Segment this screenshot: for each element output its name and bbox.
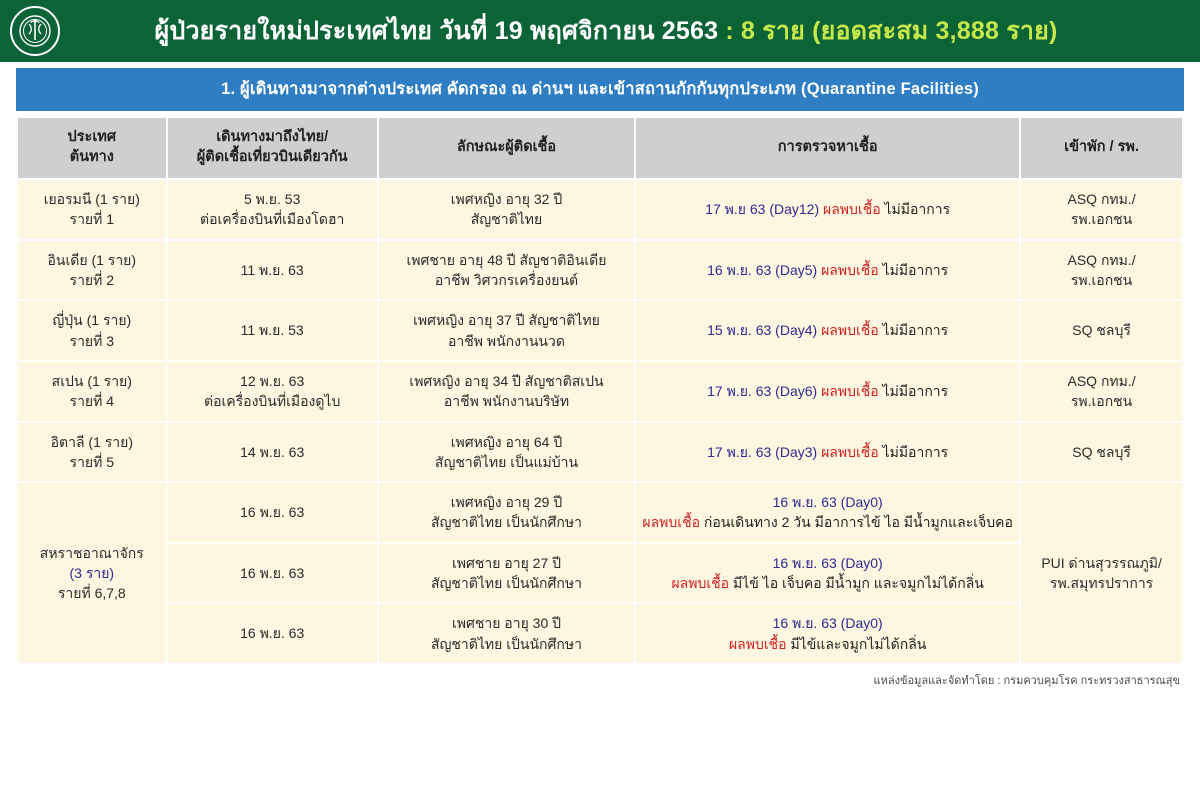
table-row: เยอรมนี (1 ราย) รายที่ 1 5 พ.ย. 53 ต่อเค… [17, 179, 1183, 240]
table-row: 16 พ.ย. 63 เพศชาย อายุ 30 ปี สัญชาติไทย … [17, 603, 1183, 664]
test-date: 17 พ.ย. 63 (Day3) [707, 444, 817, 460]
cell-testing: 17 พ.ย. 63 (Day3) ผลพบเชื้อ ไม่มีอาการ [635, 422, 1020, 483]
test-result: ผลพบเชื้อ [821, 262, 879, 278]
test-date: 16 พ.ย. 63 (Day0) [642, 553, 1013, 573]
test-date: 15 พ.ย. 63 (Day4) [707, 322, 817, 338]
test-date: 16 พ.ย. 63 (Day0) [642, 492, 1013, 512]
cell-country: เยอรมนี (1 ราย) รายที่ 1 [17, 179, 167, 240]
column-header-arrival: เดินทางมาถึงไทย/ ผู้ติดเชื้อเที่ยวบินเดี… [167, 117, 378, 179]
subtitle-wrap: 1. ผู้เดินทางมาจากต่างประเทศ คัดกรอง ณ ด… [0, 62, 1200, 116]
cases-table: ประเทศ ต้นทาง เดินทางมาถึงไทย/ ผู้ติดเชื… [16, 116, 1184, 665]
test-result: ผลพบเชื้อ [823, 201, 881, 217]
column-header-profile-line1: ลักษณะผู้ติดเชื้อ [383, 138, 630, 158]
cell-arrival: 5 พ.ย. 53 ต่อเครื่องบินที่เมืองโดฮา [167, 179, 378, 240]
test-symptom: ไม่มีอาการ [883, 262, 949, 278]
column-header-profile: ลักษณะผู้ติดเชื้อ [378, 117, 635, 179]
title-bar: ผู้ป่วยรายใหม่ประเทศไทย วันที่ 19 พฤศจิก… [0, 0, 1200, 62]
cell-country-uk-group: สหราชอาณาจักร (3 ราย) รายที่ 6,7,8 [17, 482, 167, 664]
column-header-arrival-line2: ผู้ติดเชื้อเที่ยวบินเดียวกัน [172, 148, 373, 168]
cell-stay: ASQ กทม./ รพ.เอกชน [1020, 361, 1183, 422]
cell-country: สเปน (1 ราย) รายที่ 4 [17, 361, 167, 422]
table-row: ญี่ปุ่น (1 ราย) รายที่ 3 11 พ.ย. 53 เพศห… [17, 300, 1183, 361]
test-date: 17 พ.ย 63 (Day12) [705, 201, 819, 217]
page-title: ผู้ป่วยรายใหม่ประเทศไทย วันที่ 19 พฤศจิก… [66, 11, 1200, 51]
column-header-country: ประเทศ ต้นทาง [17, 117, 167, 179]
table-row: อิตาลี (1 ราย) รายที่ 5 14 พ.ย. 63 เพศหญ… [17, 422, 1183, 483]
table-row: อินเดีย (1 ราย) รายที่ 2 11 พ.ย. 63 เพศช… [17, 240, 1183, 301]
cell-country: ญี่ปุ่น (1 ราย) รายที่ 3 [17, 300, 167, 361]
cell-profile: เพศหญิง อายุ 37 ปี สัญชาติไทย อาชีพ พนัก… [378, 300, 635, 361]
table-row: สหราชอาณาจักร (3 ราย) รายที่ 6,7,8 16 พ.… [17, 482, 1183, 543]
test-result: ผลพบเชื้อ [729, 636, 787, 652]
moph-caduceus-logo-icon [10, 6, 60, 56]
test-date: 17 พ.ย. 63 (Day6) [707, 383, 817, 399]
column-header-country-line2: ต้นทาง [22, 148, 162, 168]
table-row: สเปน (1 ราย) รายที่ 4 12 พ.ย. 63 ต่อเครื… [17, 361, 1183, 422]
cell-testing: 16 พ.ย. 63 (Day5) ผลพบเชื้อ ไม่มีอาการ [635, 240, 1020, 301]
test-date: 16 พ.ย. 63 (Day5) [707, 262, 817, 278]
cell-testing: 17 พ.ย 63 (Day12) ผลพบเชื้อ ไม่มีอาการ [635, 179, 1020, 240]
page-title-main: ผู้ป่วยรายใหม่ประเทศไทย วันที่ 19 พฤศจิก… [155, 17, 726, 45]
infographic-page: ผู้ป่วยรายใหม่ประเทศไทย วันที่ 19 พฤศจิก… [0, 0, 1200, 799]
test-result: ผลพบเชื้อ [821, 322, 879, 338]
cell-arrival: 12 พ.ย. 63 ต่อเครื่องบินที่เมืองดูไบ [167, 361, 378, 422]
test-symptom: ไม่มีอาการ [883, 444, 949, 460]
section-subtitle: 1. ผู้เดินทางมาจากต่างประเทศ คัดกรอง ณ ด… [16, 68, 1184, 111]
test-date: 16 พ.ย. 63 (Day0) [642, 613, 1013, 633]
cell-testing: 16 พ.ย. 63 (Day0) ผลพบเชื้อ ก่อนเดินทาง … [635, 482, 1020, 543]
column-header-stay: เข้าพัก / รพ. [1020, 117, 1183, 179]
cell-profile: เพศหญิง อายุ 34 ปี สัญชาติสเปน อาชีพ พนั… [378, 361, 635, 422]
cell-profile: เพศชาย อายุ 27 ปี สัญชาติไทย เป็นนักศึกษ… [378, 543, 635, 604]
cell-arrival: 11 พ.ย. 53 [167, 300, 378, 361]
test-symptom: มีไข้และจมูกไม่ได้กลิ่น [790, 636, 926, 652]
cell-profile: เพศชาย อายุ 30 ปี สัญชาติไทย เป็นนักศึกษ… [378, 603, 635, 664]
table-row: 16 พ.ย. 63 เพศชาย อายุ 27 ปี สัญชาติไทย … [17, 543, 1183, 604]
cell-profile: เพศชาย อายุ 48 ปี สัญชาติอินเดีย อาชีพ ว… [378, 240, 635, 301]
table-header-row: ประเทศ ต้นทาง เดินทางมาถึงไทย/ ผู้ติดเชื… [17, 117, 1183, 179]
cell-country: อิตาลี (1 ราย) รายที่ 5 [17, 422, 167, 483]
cell-testing: 15 พ.ย. 63 (Day4) ผลพบเชื้อ ไม่มีอาการ [635, 300, 1020, 361]
column-header-country-line1: ประเทศ [22, 128, 162, 148]
column-header-stay-line1: เข้าพัก / รพ. [1025, 138, 1178, 158]
cell-arrival: 14 พ.ย. 63 [167, 422, 378, 483]
test-result: ผลพบเชื้อ [671, 575, 729, 591]
cell-profile: เพศหญิง อายุ 32 ปี สัญชาติไทย [378, 179, 635, 240]
cell-stay-uk-group: PUI ด่านสุวรรณภูมิ/ รพ.สมุทรปราการ [1020, 482, 1183, 664]
cell-stay: ASQ กทม./ รพ.เอกชน [1020, 179, 1183, 240]
cell-testing: 16 พ.ย. 63 (Day0) ผลพบเชื้อ มีไข้ ไอ เจ็… [635, 543, 1020, 604]
cell-arrival: 16 พ.ย. 63 [167, 482, 378, 543]
page-title-count: : 8 ราย (ยอดสะสม 3,888 ราย) [725, 17, 1057, 45]
test-symptom: ไม่มีอาการ [885, 201, 951, 217]
column-header-testing: การตรวจหาเชื้อ [635, 117, 1020, 179]
cell-arrival: 16 พ.ย. 63 [167, 603, 378, 664]
column-header-arrival-line1: เดินทางมาถึงไทย/ [172, 128, 373, 148]
cell-stay: SQ ชลบุรี [1020, 422, 1183, 483]
cell-profile: เพศหญิง อายุ 29 ปี สัญชาติไทย เป็นนักศึก… [378, 482, 635, 543]
cell-arrival: 11 พ.ย. 63 [167, 240, 378, 301]
test-symptom: ก่อนเดินทาง 2 วัน มีอาการไข้ ไอ มีน้ำมูก… [704, 514, 1013, 530]
test-symptom: ไม่มีอาการ [883, 383, 949, 399]
cell-testing: 16 พ.ย. 63 (Day0) ผลพบเชื้อ มีไข้และจมูก… [635, 603, 1020, 664]
cell-stay: ASQ กทม./ รพ.เอกชน [1020, 240, 1183, 301]
cell-stay: SQ ชลบุรี [1020, 300, 1183, 361]
cell-profile: เพศหญิง อายุ 64 ปี สัญชาติไทย เป็นแม่บ้า… [378, 422, 635, 483]
test-result: ผลพบเชื้อ [821, 444, 879, 460]
test-result: ผลพบเชื้อ [821, 383, 879, 399]
test-symptom: ไม่มีอาการ [883, 322, 949, 338]
cell-testing: 17 พ.ย. 63 (Day6) ผลพบเชื้อ ไม่มีอาการ [635, 361, 1020, 422]
cell-country: อินเดีย (1 ราย) รายที่ 2 [17, 240, 167, 301]
cases-table-wrap: ประเทศ ต้นทาง เดินทางมาถึงไทย/ ผู้ติดเชื… [0, 116, 1200, 665]
column-header-testing-line1: การตรวจหาเชื้อ [640, 138, 1015, 158]
test-result: ผลพบเชื้อ [642, 514, 700, 530]
source-note: แหล่งข้อมูลและจัดทำโดย : กรมควบคุมโรค กร… [0, 665, 1200, 689]
test-symptom: มีไข้ ไอ เจ็บคอ มีน้ำมูก และจมูกไม่ได้กล… [733, 575, 984, 591]
cell-arrival: 16 พ.ย. 63 [167, 543, 378, 604]
